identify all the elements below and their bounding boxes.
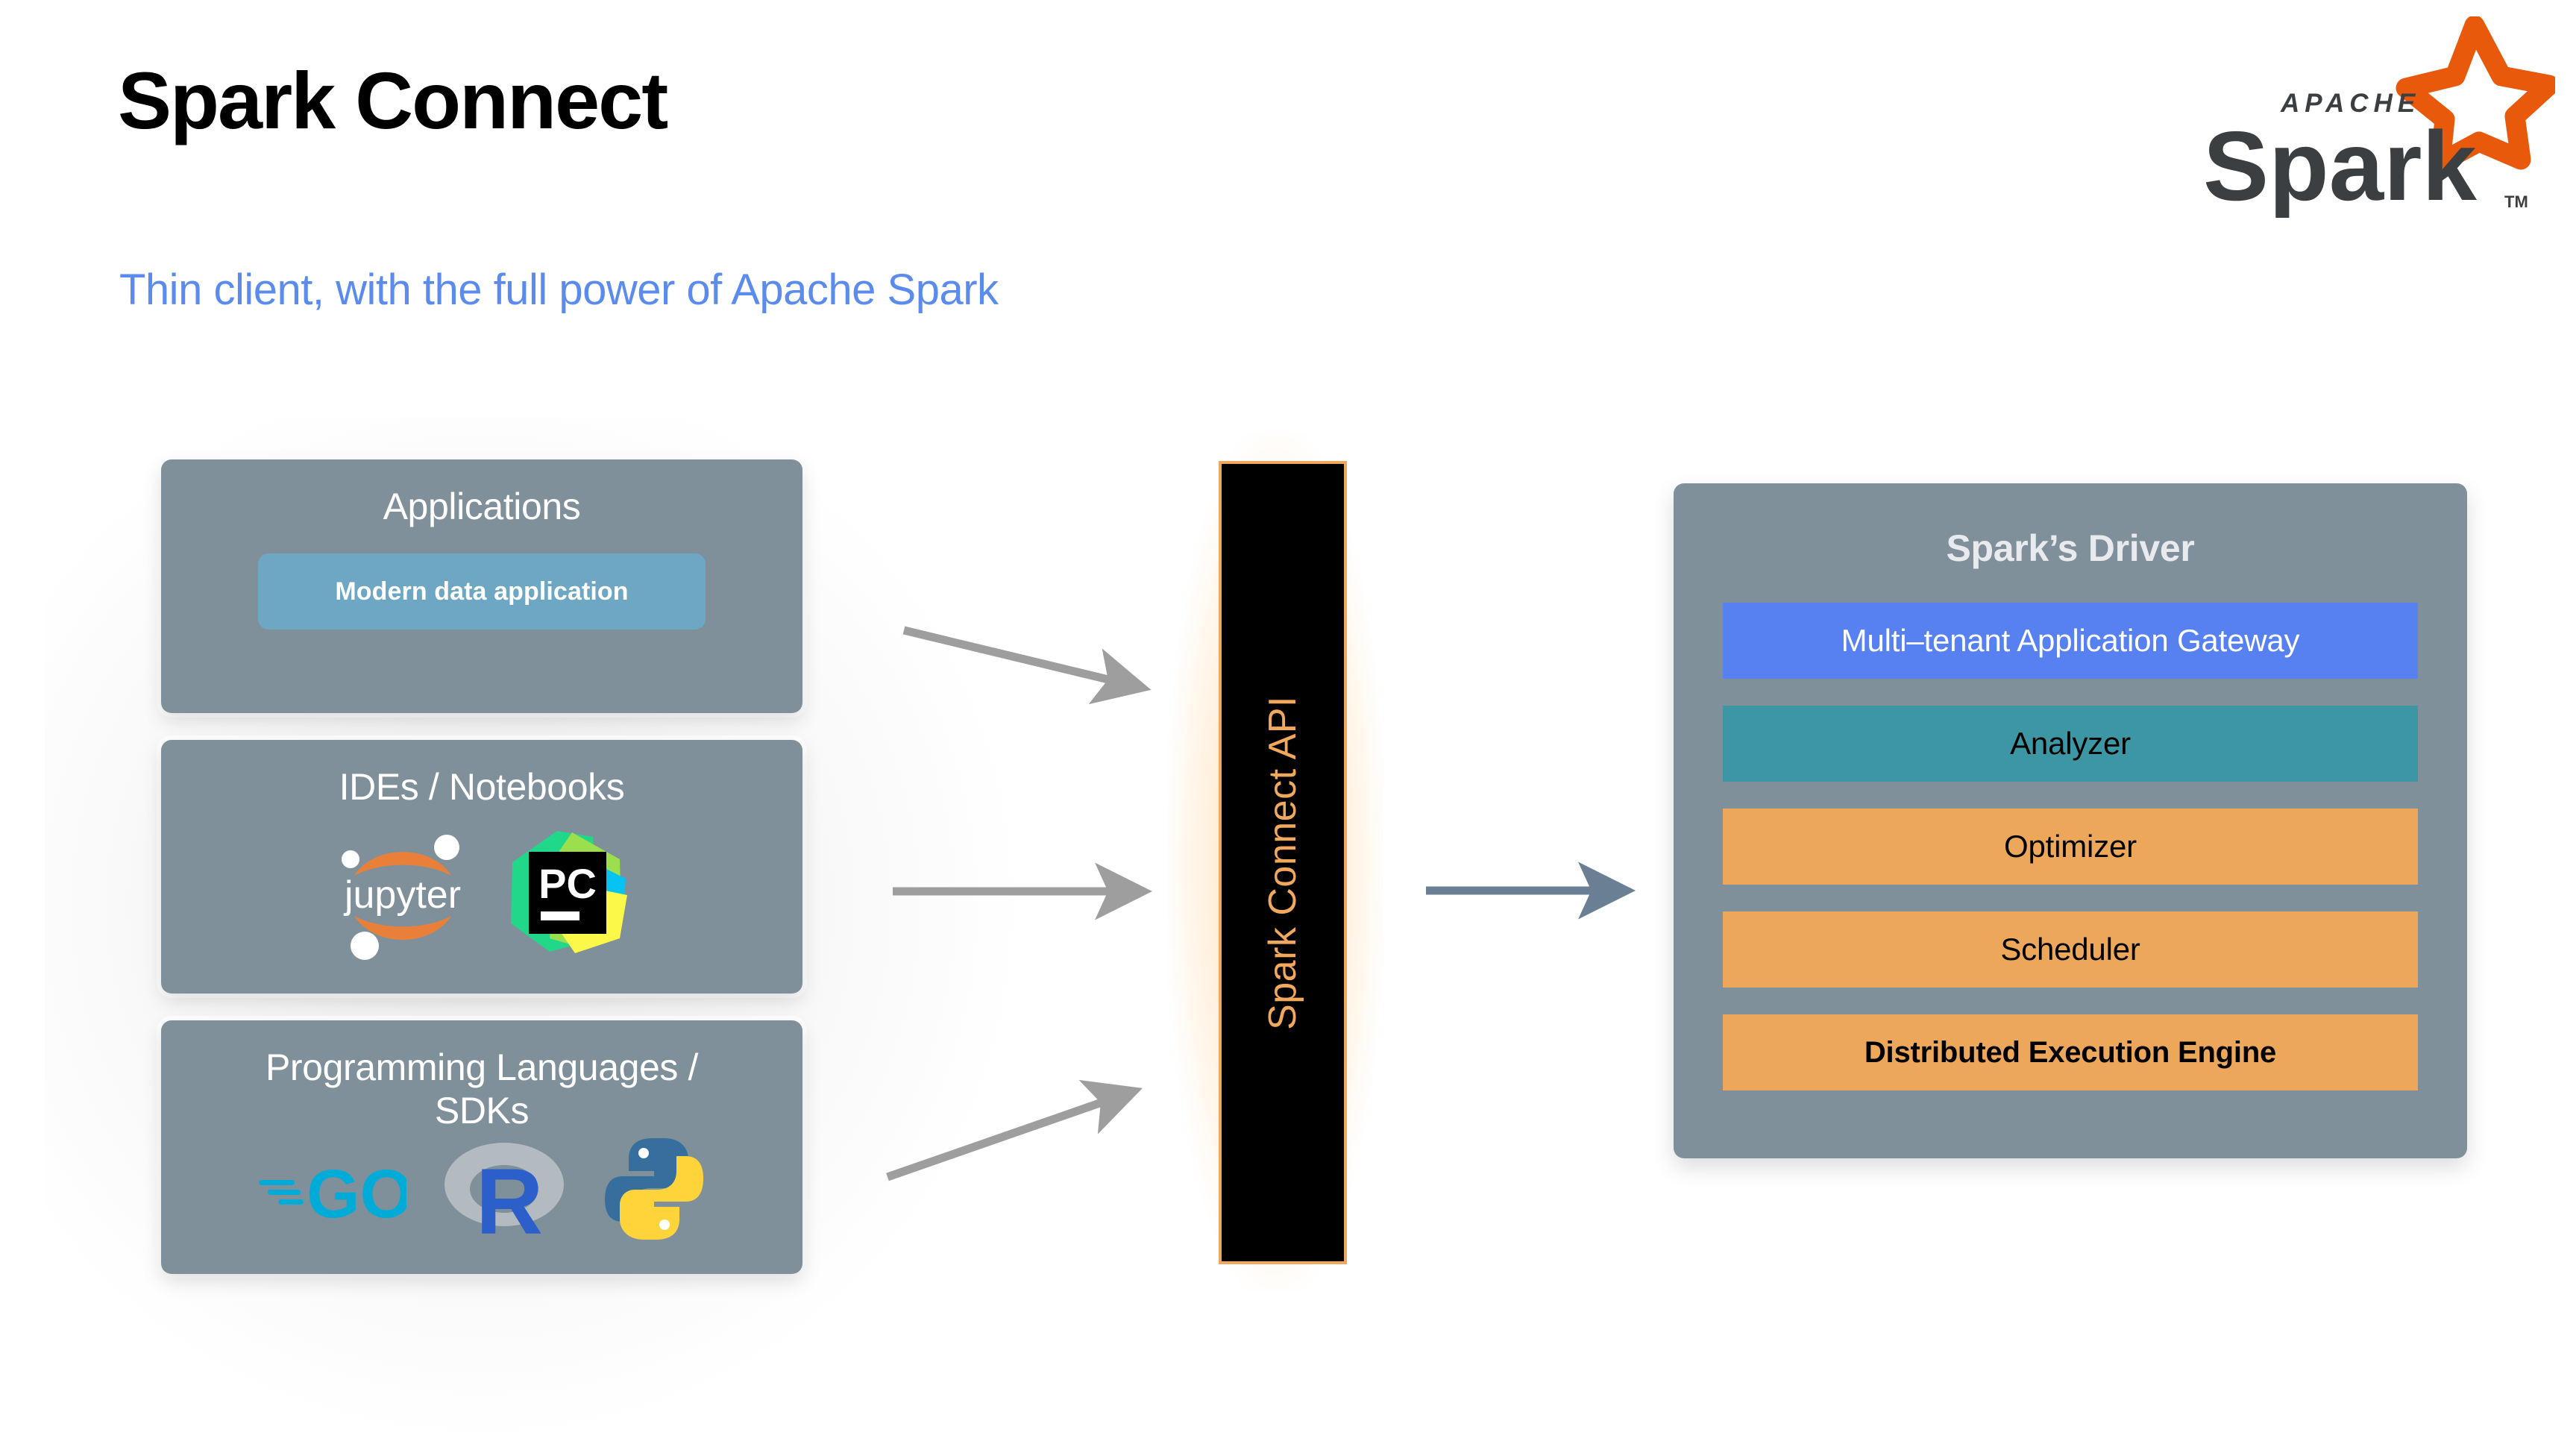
go-logo: GO [257,1150,406,1228]
pycharm-logo: PC [503,826,630,957]
driver-row-analyzer[interactable]: Analyzer [1723,706,2418,782]
jupyter-logo: jupyter [333,820,472,962]
trademark-mark: TM [2504,192,2528,211]
card-programming-languages-sdks[interactable]: Programming Languages / SDKs GO [161,1020,802,1274]
page-title: Spark Connect [118,58,667,142]
driver-row-scheduler[interactable]: Scheduler [1723,911,2418,988]
svg-text:R: R [476,1150,543,1241]
spark-driver-title: Spark’s Driver [1674,483,2467,570]
card-applications[interactable]: Applications Modern data application [161,459,802,713]
driver-row-distributed-execution-engine[interactable]: Distributed Execution Engine [1723,1014,2418,1090]
spark-driver-rows: Multi–tenant Application Gateway Analyze… [1674,603,2467,1090]
client-cards-column: Applications Modern data application IDE… [161,459,802,1274]
card-title-applications: Applications [161,459,802,528]
svg-text:PC: PC [538,860,597,907]
python-logo [602,1135,706,1243]
driver-row-optimizer[interactable]: Optimizer [1723,809,2418,885]
spark-wordmark: Spark [2203,111,2477,218]
ide-logo-row: jupyter PC [161,820,802,962]
arrow-applications-to-api [904,630,1111,680]
card-title-line1: Programming Languages / [266,1046,698,1088]
card-title-programming-languages-sdks: Programming Languages / SDKs [161,1020,802,1132]
svg-text:jupyter: jupyter [343,873,461,917]
modern-data-application-pill[interactable]: Modern data application [258,553,706,630]
spark-driver-panel[interactable]: Spark’s Driver Multi–tenant Application … [1674,483,2467,1158]
language-logo-row: GO R [161,1135,802,1243]
page-subtitle: Thin client, with the full power of Apac… [119,265,999,315]
card-ides-notebooks[interactable]: IDEs / Notebooks jupyter [161,740,802,994]
r-logo: R [441,1137,568,1241]
driver-row-multi-tenant-application-gateway[interactable]: Multi–tenant Application Gateway [1723,603,2418,679]
card-title-ides-notebooks: IDEs / Notebooks [161,740,802,809]
apache-spark-logo: APACHE Spark TM [2182,16,2555,218]
svg-text:GO: GO [307,1156,406,1228]
spark-connect-api-label: Spark Connect API [1260,696,1305,1030]
arrow-languages-to-api [888,1102,1104,1177]
card-title-line2: SDKs [435,1090,529,1131]
spark-connect-api-bar[interactable]: Spark Connect API [1219,461,1347,1264]
